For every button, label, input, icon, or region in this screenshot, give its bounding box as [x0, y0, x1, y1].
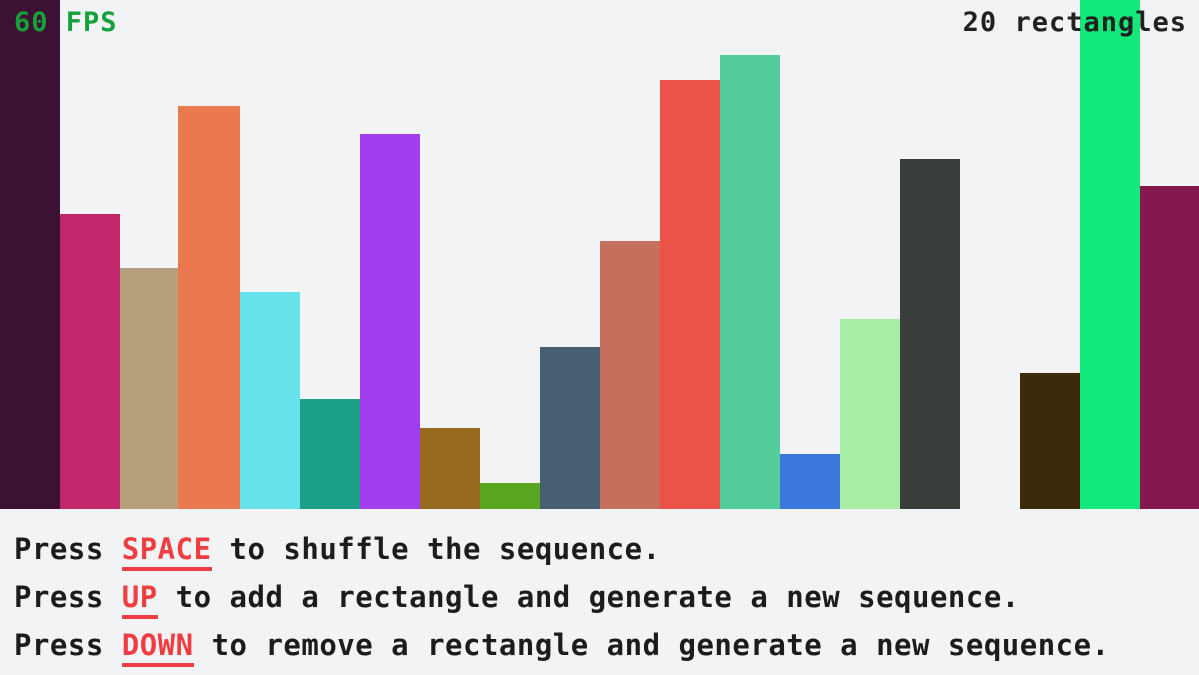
- chart-bar: [720, 55, 780, 509]
- instruction-line: Press SPACE to shuffle the sequence.: [14, 525, 1199, 573]
- chart-bar: [60, 214, 120, 509]
- app-canvas: 60 FPS 20 rectangles Press SPACE to shuf…: [0, 0, 1199, 675]
- instruction-suffix: to shuffle the sequence.: [212, 532, 661, 566]
- rectangle-count-label: 20 rectangles: [963, 8, 1187, 38]
- chart-bar: [300, 399, 360, 509]
- instruction-suffix: to add a rectangle and generate a new se…: [158, 580, 1020, 614]
- chart-bar: [1080, 0, 1140, 509]
- instruction-key-space[interactable]: SPACE: [122, 532, 212, 571]
- instruction-key-up[interactable]: UP: [122, 580, 158, 619]
- chart-bar: [240, 292, 300, 509]
- chart-bar: [360, 134, 420, 509]
- chart-bar: [1140, 186, 1199, 509]
- chart-bar: [840, 319, 900, 509]
- chart-bar: [120, 268, 178, 509]
- instruction-key-down[interactable]: DOWN: [122, 628, 194, 667]
- bar-chart: [0, 0, 1199, 509]
- chart-bar: [420, 428, 480, 509]
- chart-bar: [900, 159, 960, 509]
- chart-bar: [780, 454, 840, 509]
- chart-bar: [540, 347, 600, 509]
- instruction-prefix: Press: [14, 628, 122, 662]
- instruction-line: Press UP to add a rectangle and generate…: [14, 573, 1199, 621]
- instruction-prefix: Press: [14, 580, 122, 614]
- chart-bar: [1020, 373, 1080, 509]
- instruction-line: Press DOWN to remove a rectangle and gen…: [14, 621, 1199, 669]
- instruction-prefix: Press: [14, 532, 122, 566]
- chart-bar: [178, 106, 240, 509]
- chart-bar: [480, 483, 540, 509]
- instructions-panel: Press SPACE to shuffle the sequence.Pres…: [0, 509, 1199, 675]
- instruction-suffix: to remove a rectangle and generate a new…: [194, 628, 1110, 662]
- chart-bar: [660, 80, 720, 509]
- chart-bar: [0, 0, 60, 509]
- fps-counter: 60 FPS: [14, 8, 118, 38]
- chart-bar: [600, 241, 660, 509]
